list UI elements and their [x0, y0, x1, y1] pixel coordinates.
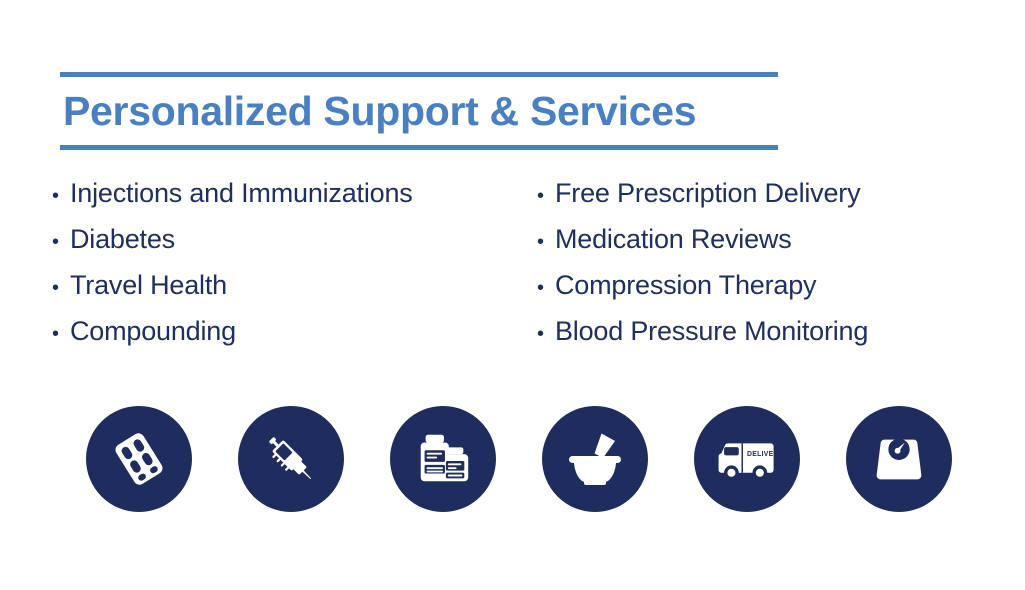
bullet-icon: • [52, 324, 70, 344]
page-title: Personalized Support & Services [60, 77, 778, 145]
blister-pack-icon [107, 427, 171, 491]
services-list-right: • Free Prescription Delivery • Medicatio… [537, 180, 868, 364]
list-item-label: Compounding [70, 318, 236, 345]
list-item-label: Compression Therapy [555, 272, 816, 299]
list-item-label: Medication Reviews [555, 226, 792, 253]
service-icon-row: DELIVERY [0, 406, 1025, 516]
list-item: • Diabetes [52, 226, 413, 272]
list-item-label: Free Prescription Delivery [555, 180, 860, 207]
list-item-label: Travel Health [70, 272, 227, 299]
list-item: • Medication Reviews [537, 226, 868, 272]
icon-badge-blister-pack [86, 406, 192, 512]
list-item: • Blood Pressure Monitoring [537, 318, 868, 364]
bullet-icon: • [537, 278, 555, 298]
list-item: • Free Prescription Delivery [537, 180, 868, 226]
bullet-icon: • [52, 186, 70, 206]
weight-scale-icon [868, 428, 930, 490]
icon-badge-delivery-truck: DELIVERY [694, 406, 800, 512]
icon-badge-weight-scale [846, 406, 952, 512]
services-list-left: • Injections and Immunizations • Diabete… [52, 180, 413, 364]
services-lists: • Injections and Immunizations • Diabete… [0, 180, 1025, 370]
list-item: • Compression Therapy [537, 272, 868, 318]
bullet-icon: • [52, 278, 70, 298]
mortar-pestle-icon [563, 427, 627, 491]
header-rule-bottom [60, 145, 778, 150]
slide-canvas: Personalized Support & Services • Inject… [0, 0, 1025, 590]
icon-badge-pill-bottles [390, 406, 496, 512]
bullet-icon: • [537, 186, 555, 206]
header-block: Personalized Support & Services [60, 72, 778, 150]
list-item: • Travel Health [52, 272, 413, 318]
bullet-icon: • [537, 324, 555, 344]
icon-badge-mortar-pestle [542, 406, 648, 512]
list-item-label: Injections and Immunizations [70, 180, 413, 207]
syringe-icon [259, 427, 323, 491]
delivery-truck-icon: DELIVERY [714, 426, 780, 492]
icon-badge-syringe [238, 406, 344, 512]
list-item: • Compounding [52, 318, 413, 364]
list-item: • Injections and Immunizations [52, 180, 413, 226]
pill-bottles-icon [412, 428, 474, 490]
bullet-icon: • [52, 232, 70, 252]
list-item-label: Diabetes [70, 226, 175, 253]
list-item-label: Blood Pressure Monitoring [555, 318, 868, 345]
bullet-icon: • [537, 232, 555, 252]
delivery-truck-label: DELIVERY [747, 451, 780, 458]
